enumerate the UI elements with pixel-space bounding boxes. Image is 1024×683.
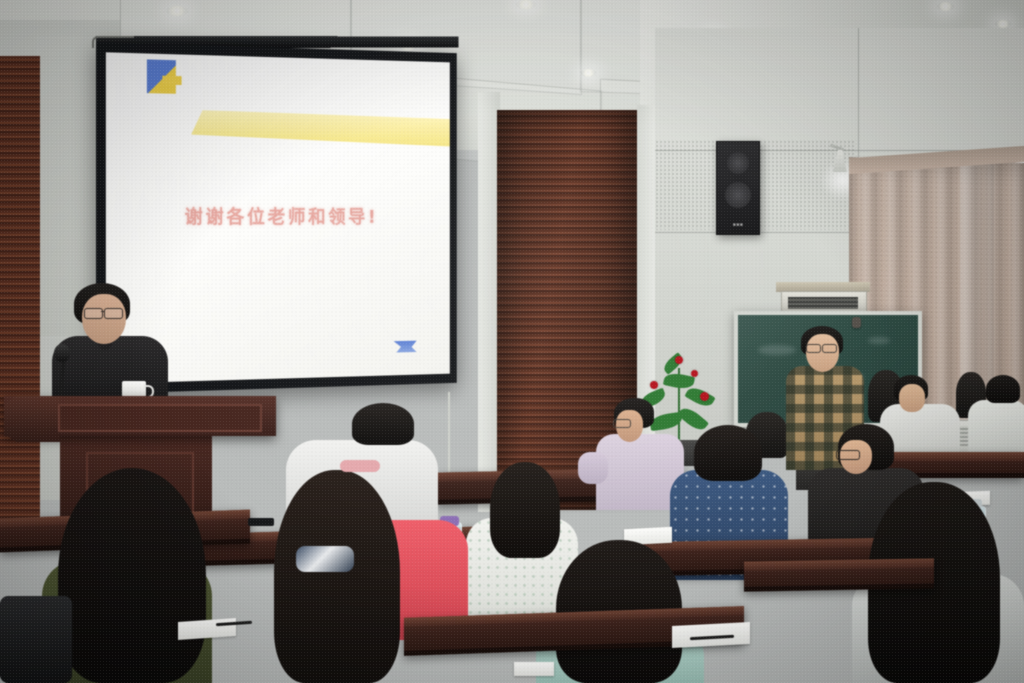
chalk-smudge — [758, 345, 796, 355]
backpack[interactable] — [0, 596, 72, 683]
hair-scrunchie — [296, 546, 354, 572]
downlight-icon — [516, 0, 536, 9]
hair — [986, 375, 1020, 403]
hair-ponytail — [274, 470, 400, 683]
face — [899, 384, 925, 412]
shirt — [968, 400, 1024, 458]
hair — [352, 403, 414, 445]
face — [82, 294, 126, 344]
eyeglasses-bridge — [101, 311, 105, 312]
chalkboard-magnet[interactable] — [852, 317, 861, 328]
screen-pull-cord[interactable] — [448, 392, 450, 482]
lecture-hall-photo: ■■■ 谢谢各位老师和领导! — [0, 0, 1024, 683]
eyeglasses-icon — [613, 419, 631, 428]
eyeglasses-icon — [836, 450, 860, 460]
loudspeaker-icon: ■■■ — [716, 141, 760, 235]
bench-top — [744, 558, 934, 570]
paper-sheet[interactable] — [178, 618, 236, 640]
hair-band — [340, 460, 380, 472]
microphone-icon[interactable] — [54, 344, 70, 362]
wood-slat-wall-left — [0, 56, 40, 526]
plant-flower — [691, 370, 698, 377]
slide-footer-mark — [394, 341, 417, 353]
paper-sheet[interactable] — [514, 662, 554, 676]
bench-desk — [744, 558, 934, 591]
eyeglasses-icon — [104, 308, 123, 319]
slide-ribbon-banner — [191, 110, 450, 147]
speaker-cone — [725, 182, 751, 208]
hair — [58, 468, 206, 683]
speaker-brand-label: ■■■ — [733, 222, 744, 228]
arm — [578, 452, 608, 484]
plant-flower — [700, 392, 709, 401]
lectern-side-cap — [4, 396, 60, 442]
eyeglasses-icon — [84, 308, 103, 319]
speaker-cone — [727, 152, 749, 174]
mobile-phone[interactable] — [248, 518, 274, 526]
face — [806, 334, 839, 372]
downlight-icon — [166, 6, 188, 16]
slide-text: 谢谢各位老师和领导! — [106, 202, 450, 229]
lectern-front-panel — [58, 404, 262, 432]
projected-slide: 谢谢各位老师和领导! — [106, 52, 450, 383]
open-notebook[interactable] — [672, 622, 750, 648]
downlight-icon — [995, 20, 1011, 28]
eyeglasses-icon — [822, 344, 837, 353]
eyeglasses-icon — [806, 344, 821, 353]
downlight-icon — [937, 2, 954, 11]
downlight-icon — [581, 69, 596, 77]
chalk-smudge — [868, 337, 890, 344]
hair — [490, 462, 560, 558]
slide-logo-bar — [162, 76, 181, 85]
hair — [694, 425, 762, 481]
plant-flower — [675, 356, 683, 364]
vent-grille — [788, 297, 858, 309]
plant-flower — [650, 381, 658, 389]
